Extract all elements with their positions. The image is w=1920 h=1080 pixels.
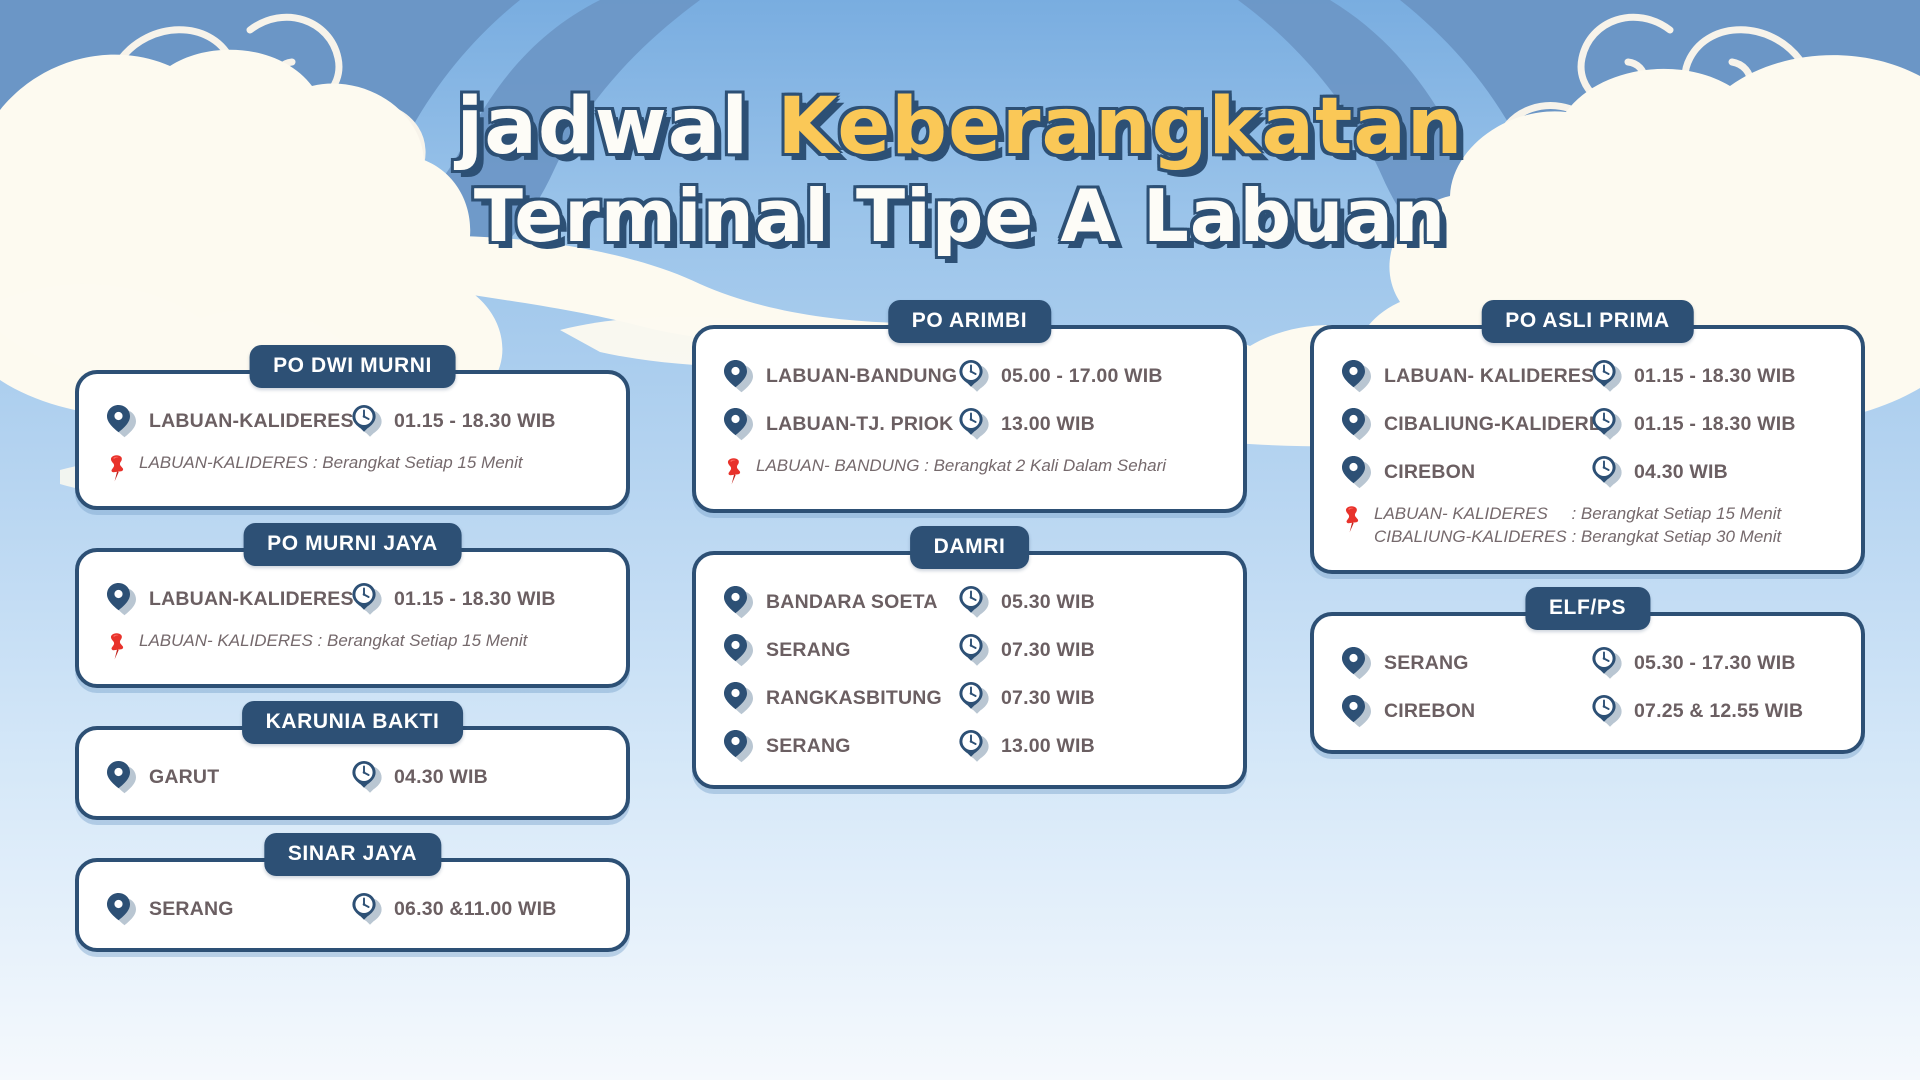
operator-card-body: LABUAN-KALIDERES 01.15 - 18.30 WIB LABUA… — [75, 370, 630, 510]
departure-time-cell: 01.15 - 18.30 WIB — [350, 404, 600, 438]
schedule-column-3: PO ASLI PRIMA LABUAN- KALIDERES 01.15 - … — [1310, 325, 1865, 792]
route-cell: LABUAN- KALIDERES — [1340, 359, 1590, 393]
operator-card-body: BANDARA SOETA 05.30 WIB SERANG 07.30 WIB… — [692, 551, 1247, 789]
pushpin-icon — [105, 454, 131, 484]
route-cell: CIREBON — [1340, 694, 1590, 728]
operator-name-badge: PO MURNI JAYA — [243, 523, 462, 566]
departure-time-cell: 05.30 - 17.30 WIB — [1590, 646, 1835, 680]
operator-card: PO ASLI PRIMA LABUAN- KALIDERES 01.15 - … — [1310, 325, 1865, 574]
schedule-row: LABUAN-BANDUNG 05.00 - 17.00 WIB — [722, 359, 1217, 393]
schedule-note: LABUAN-KALIDERES : Berangkat Setiap 15 M… — [105, 452, 600, 484]
operator-name-badge: PO DWI MURNI — [249, 345, 456, 388]
departure-time-label: 01.15 - 18.30 WIB — [394, 410, 556, 433]
schedule-row: SERANG 05.30 - 17.30 WIB — [1340, 646, 1835, 680]
location-pin-icon — [105, 892, 139, 926]
departure-time-cell: 07.25 & 12.55 WIB — [1590, 694, 1835, 728]
operator-card-body: LABUAN- KALIDERES 01.15 - 18.30 WIB CIBA… — [1310, 325, 1865, 574]
departure-time-label: 13.00 WIB — [1001, 413, 1095, 436]
departure-time-cell: 13.00 WIB — [957, 729, 1217, 763]
route-cell: GARUT — [105, 760, 350, 794]
schedule-row: LABUAN-KALIDERES 01.15 - 18.30 WIB — [105, 404, 600, 438]
location-pin-icon — [1340, 407, 1374, 441]
schedule-note-text: LABUAN- KALIDERES : Berangkat Setiap 15 … — [1374, 503, 1781, 548]
departure-time-cell: 01.15 - 18.30 WIB — [1590, 359, 1835, 393]
departure-time-label: 07.25 & 12.55 WIB — [1634, 700, 1803, 723]
departure-time-cell: 04.30 WIB — [1590, 455, 1835, 489]
location-pin-icon — [105, 404, 139, 438]
schedule-row: RANGKASBITUNG 07.30 WIB — [722, 681, 1217, 715]
route-cell: SERANG — [722, 633, 957, 667]
route-label: SERANG — [766, 735, 851, 758]
route-label: LABUAN-TJ. PRIOK — [766, 413, 953, 436]
route-label: RANGKASBITUNG — [766, 687, 942, 710]
operator-name-badge: SINAR JAYA — [264, 833, 441, 876]
operator-name-badge: DAMRI — [910, 526, 1030, 569]
clock-icon — [1590, 455, 1624, 489]
route-label: LABUAN-KALIDERES — [149, 410, 354, 433]
clock-icon — [1590, 646, 1624, 680]
departure-time-label: 06.30 &11.00 WIB — [394, 898, 557, 921]
clock-icon — [1590, 407, 1624, 441]
route-cell: LABUAN-KALIDERES — [105, 404, 350, 438]
title-word-jadwal: jadwal — [457, 82, 750, 172]
operator-card-body: LABUAN-KALIDERES 01.15 - 18.30 WIB LABUA… — [75, 548, 630, 688]
schedule-row: LABUAN-KALIDERES 01.15 - 18.30 WIB — [105, 582, 600, 616]
route-label: LABUAN- KALIDERES — [1384, 365, 1594, 388]
operator-name-badge: KARUNIA BAKTI — [242, 701, 464, 744]
schedule-row: CIREBON 07.25 & 12.55 WIB — [1340, 694, 1835, 728]
title-word-keberangkatan: Keberangkatan — [777, 82, 1463, 172]
clock-icon — [350, 892, 384, 926]
location-pin-icon — [722, 359, 756, 393]
schedule-row: SERANG 06.30 &11.00 WIB — [105, 892, 600, 926]
departure-time-label: 13.00 WIB — [1001, 735, 1095, 758]
operator-card: PO DWI MURNI LABUAN-KALIDERES 01.15 - 18… — [75, 370, 630, 510]
pushpin-icon — [105, 632, 131, 662]
title-line-1: jadwal Keberangkatan — [0, 88, 1920, 166]
route-label: SERANG — [149, 898, 234, 921]
route-label: CIREBON — [1384, 700, 1475, 723]
clock-icon — [957, 681, 991, 715]
operator-card: DAMRI BANDARA SOETA 05.30 WIB SERANG 07.… — [692, 551, 1247, 789]
location-pin-icon — [722, 681, 756, 715]
route-label: GARUT — [149, 766, 219, 789]
departure-time-cell: 04.30 WIB — [350, 760, 600, 794]
schedule-row: CIREBON 04.30 WIB — [1340, 455, 1835, 489]
location-pin-icon — [722, 407, 756, 441]
title-line-2: Terminal Tipe A Labuan — [0, 180, 1920, 252]
departure-time-cell: 01.15 - 18.30 WIB — [1590, 407, 1835, 441]
departure-time-cell: 06.30 &11.00 WIB — [350, 892, 600, 926]
operator-name-badge: PO ASLI PRIMA — [1481, 300, 1694, 343]
clock-icon — [957, 585, 991, 619]
departure-time-cell: 07.30 WIB — [957, 633, 1217, 667]
pushpin-icon — [1340, 505, 1366, 535]
departure-time-label: 07.30 WIB — [1001, 687, 1095, 710]
route-label: SERANG — [1384, 652, 1469, 675]
schedule-row: SERANG 07.30 WIB — [722, 633, 1217, 667]
departure-time-label: 07.30 WIB — [1001, 639, 1095, 662]
schedule-note: LABUAN- KALIDERES : Berangkat Setiap 15 … — [1340, 503, 1835, 548]
schedule-note-text: LABUAN-KALIDERES : Berangkat Setiap 15 M… — [139, 452, 523, 475]
clock-icon — [350, 582, 384, 616]
schedule-row: BANDARA SOETA 05.30 WIB — [722, 585, 1217, 619]
clock-icon — [1590, 359, 1624, 393]
location-pin-icon — [105, 760, 139, 794]
location-pin-icon — [1340, 455, 1374, 489]
operator-card: KARUNIA BAKTI GARUT 04.30 WIB — [75, 726, 630, 820]
route-cell: RANGKASBITUNG — [722, 681, 957, 715]
route-label: CIBALIUNG-KALIDERES — [1384, 413, 1615, 436]
departure-time-cell: 05.00 - 17.00 WIB — [957, 359, 1217, 393]
schedule-note-text: LABUAN- KALIDERES : Berangkat Setiap 15 … — [139, 630, 527, 653]
poster-title: jadwal Keberangkatan Terminal Tipe A Lab… — [0, 88, 1920, 252]
schedule-row: GARUT 04.30 WIB — [105, 760, 600, 794]
route-cell: CIBALIUNG-KALIDERES — [1340, 407, 1590, 441]
departure-time-label: 05.30 - 17.30 WIB — [1634, 652, 1796, 675]
operator-card: PO ARIMBI LABUAN-BANDUNG 05.00 - 17.00 W… — [692, 325, 1247, 513]
departure-time-label: 01.15 - 18.30 WIB — [394, 588, 556, 611]
location-pin-icon — [722, 585, 756, 619]
operator-card-body: LABUAN-BANDUNG 05.00 - 17.00 WIB LABUAN-… — [692, 325, 1247, 513]
operator-card: PO MURNI JAYA LABUAN-KALIDERES 01.15 - 1… — [75, 548, 630, 688]
operator-card: ELF/PS SERANG 05.30 - 17.30 WIB CIREBON … — [1310, 612, 1865, 754]
route-label: CIREBON — [1384, 461, 1475, 484]
schedule-columns: PO DWI MURNI LABUAN-KALIDERES 01.15 - 18… — [0, 370, 1920, 1070]
infographic-poster: jadwal Keberangkatan Terminal Tipe A Lab… — [0, 0, 1920, 1080]
clock-icon — [957, 633, 991, 667]
clock-icon — [957, 407, 991, 441]
clock-icon — [957, 359, 991, 393]
departure-time-label: 04.30 WIB — [1634, 461, 1728, 484]
location-pin-icon — [105, 582, 139, 616]
clock-icon — [350, 404, 384, 438]
schedule-row: CIBALIUNG-KALIDERES 01.15 - 18.30 WIB — [1340, 407, 1835, 441]
route-cell: CIREBON — [1340, 455, 1590, 489]
route-cell: LABUAN-TJ. PRIOK — [722, 407, 957, 441]
operator-name-badge: PO ARIMBI — [888, 300, 1051, 343]
route-label: LABUAN-BANDUNG — [766, 365, 957, 388]
operator-card-body: SERANG 05.30 - 17.30 WIB CIREBON 07.25 &… — [1310, 612, 1865, 754]
departure-time-cell: 05.30 WIB — [957, 585, 1217, 619]
route-cell: SERANG — [722, 729, 957, 763]
location-pin-icon — [722, 729, 756, 763]
schedule-note: LABUAN- KALIDERES : Berangkat Setiap 15 … — [105, 630, 600, 662]
route-label: SERANG — [766, 639, 851, 662]
pushpin-icon — [722, 457, 748, 487]
route-cell: SERANG — [1340, 646, 1590, 680]
location-pin-icon — [1340, 694, 1374, 728]
departure-time-label: 05.00 - 17.00 WIB — [1001, 365, 1163, 388]
route-cell: LABUAN-KALIDERES — [105, 582, 350, 616]
route-label: BANDARA SOETA — [766, 591, 938, 614]
departure-time-cell: 07.30 WIB — [957, 681, 1217, 715]
clock-icon — [957, 729, 991, 763]
clock-icon — [1590, 694, 1624, 728]
departure-time-label: 01.15 - 18.30 WIB — [1634, 413, 1796, 436]
schedule-column-1: PO DWI MURNI LABUAN-KALIDERES 01.15 - 18… — [75, 370, 630, 990]
schedule-row: LABUAN- KALIDERES 01.15 - 18.30 WIB — [1340, 359, 1835, 393]
route-cell: LABUAN-BANDUNG — [722, 359, 957, 393]
departure-time-cell: 01.15 - 18.30 WIB — [350, 582, 600, 616]
departure-time-cell: 13.00 WIB — [957, 407, 1217, 441]
schedule-column-2: PO ARIMBI LABUAN-BANDUNG 05.00 - 17.00 W… — [692, 325, 1247, 827]
departure-time-label: 05.30 WIB — [1001, 591, 1095, 614]
location-pin-icon — [1340, 359, 1374, 393]
location-pin-icon — [1340, 646, 1374, 680]
operator-card: SINAR JAYA SERANG 06.30 &11.00 WIB — [75, 858, 630, 952]
route-cell: BANDARA SOETA — [722, 585, 957, 619]
schedule-note: LABUAN- BANDUNG : Berangkat 2 Kali Dalam… — [722, 455, 1217, 487]
schedule-row: SERANG 13.00 WIB — [722, 729, 1217, 763]
schedule-row: LABUAN-TJ. PRIOK 13.00 WIB — [722, 407, 1217, 441]
departure-time-label: 04.30 WIB — [394, 766, 488, 789]
operator-name-badge: ELF/PS — [1525, 587, 1650, 630]
route-label: LABUAN-KALIDERES — [149, 588, 354, 611]
clock-icon — [350, 760, 384, 794]
schedule-note-text: LABUAN- BANDUNG : Berangkat 2 Kali Dalam… — [756, 455, 1166, 478]
route-cell: SERANG — [105, 892, 350, 926]
location-pin-icon — [722, 633, 756, 667]
departure-time-label: 01.15 - 18.30 WIB — [1634, 365, 1796, 388]
